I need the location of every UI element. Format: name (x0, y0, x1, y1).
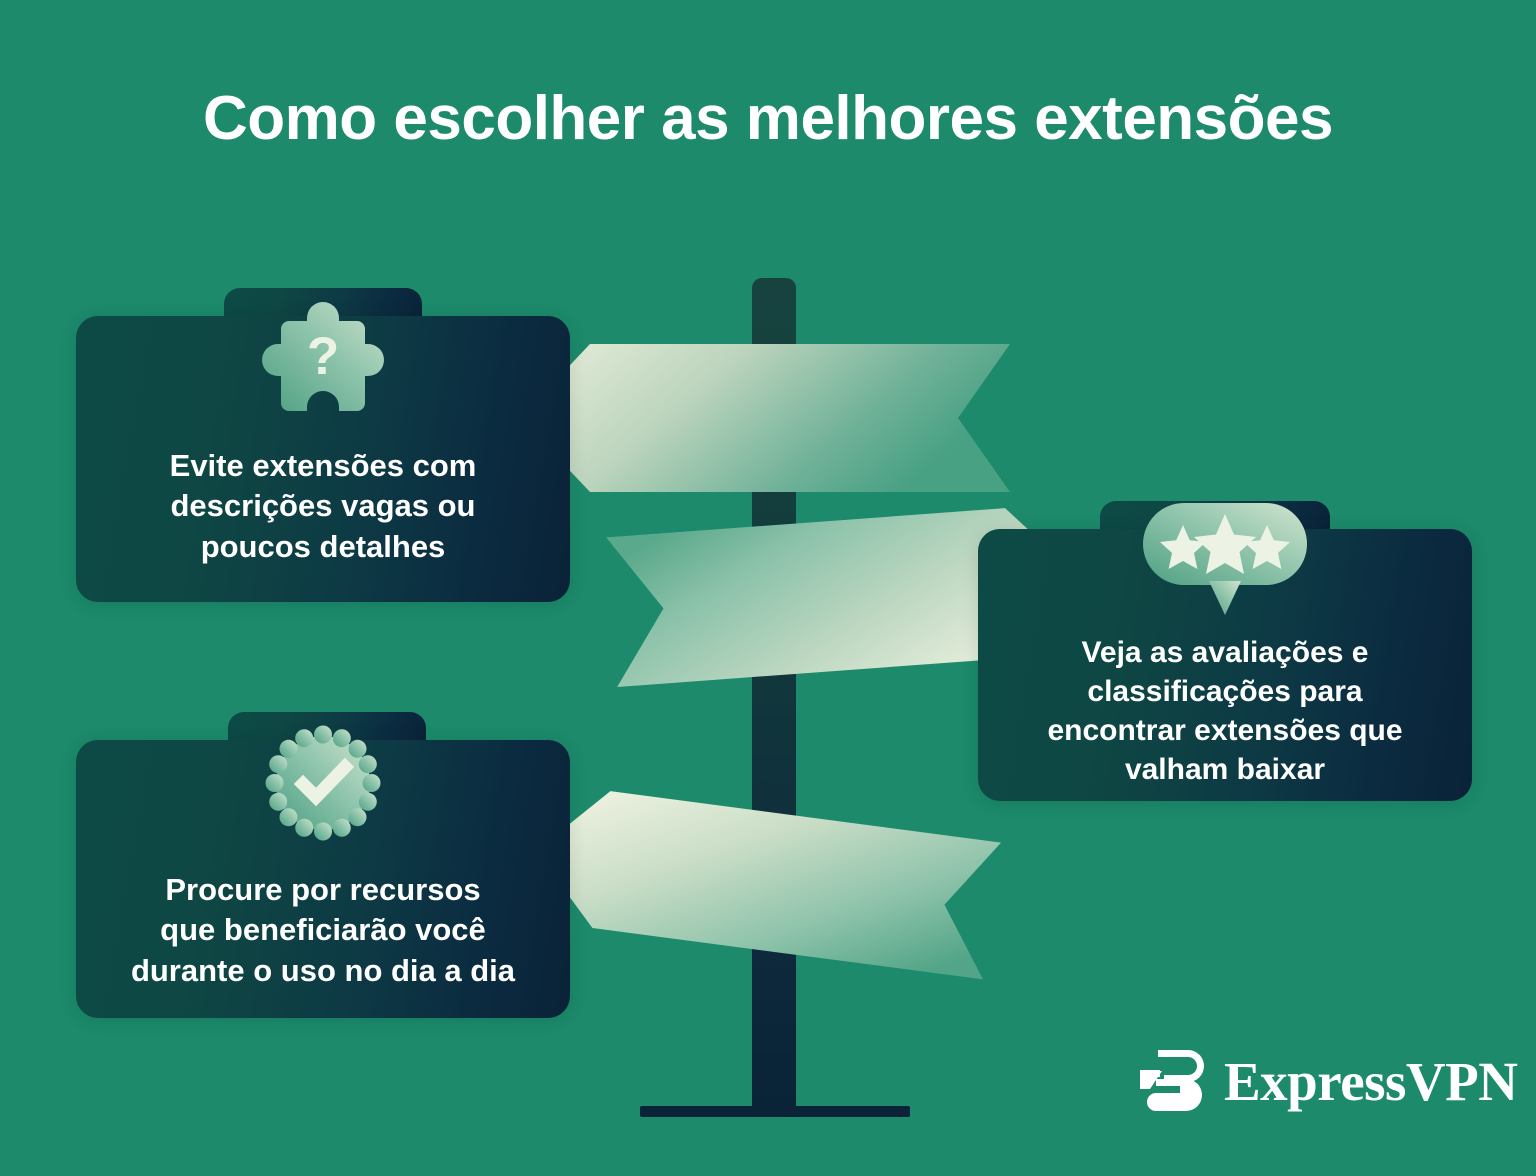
card-body: ? Evite extensões com descrições vagas o… (76, 316, 570, 602)
card-body: Procure por recursos que beneficiarão vo… (76, 740, 570, 1018)
tip-card-avoid-vague-descriptions: ? Evite extensões com descrições vagas o… (76, 288, 570, 602)
expressvpn-e-mark-icon (1136, 1048, 1208, 1114)
expressvpn-logo: ExpressVPN (1136, 1048, 1517, 1114)
tip-card-check-reviews-ratings: Veja as avaliações e classificações para… (978, 501, 1472, 801)
verified-check-badge-icon (262, 722, 384, 844)
direction-sign-left-top (520, 344, 1010, 492)
review-stars-bubble-icon (1141, 501, 1309, 617)
signpost-base (640, 1106, 910, 1117)
infographic-canvas: Como escolher as melhores extensões (0, 0, 1536, 1176)
card-body: Veja as avaliações e classificações para… (978, 529, 1472, 801)
direction-sign-left-bottom (527, 783, 1001, 980)
tip-card-text: Evite extensões com descrições vagas ou … (170, 446, 477, 567)
page-title: Como escolher as melhores extensões (0, 86, 1536, 151)
expressvpn-wordmark: ExpressVPN (1224, 1054, 1517, 1109)
puzzle-question-icon: ? (260, 298, 386, 424)
tip-card-text: Procure por recursos que beneficiarão vo… (131, 870, 515, 991)
signpost-pole (752, 278, 796, 1114)
tip-card-text: Veja as avaliações e classificações para… (1047, 633, 1402, 789)
svg-text:?: ? (307, 327, 339, 386)
tip-card-look-for-useful-features: Procure por recursos que beneficiarão vo… (76, 712, 570, 1018)
